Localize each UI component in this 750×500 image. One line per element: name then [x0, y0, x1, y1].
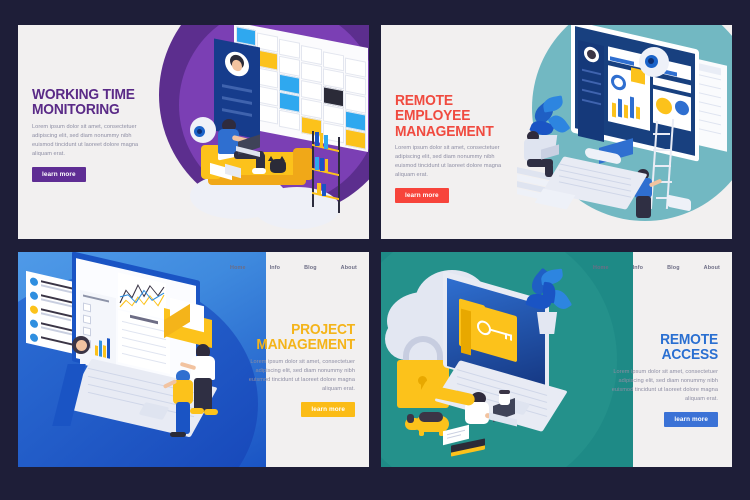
nav-item-home[interactable]: Home	[593, 265, 609, 271]
panel-title-line-1: WORKING TIME	[32, 87, 139, 102]
profile-card	[214, 39, 260, 140]
panel-title: REMOTE EMPLOYEE MANAGEMENT	[395, 93, 505, 139]
banner-set: WORKING TIME MONITORING Lorem ipsum dolo…	[0, 0, 750, 500]
panel-body-text: Lorem ipsum dolor sit amet, consectetuer…	[32, 123, 148, 159]
panel-body-text: Lorem ipsum dolor sit amet, consectetuer…	[395, 144, 515, 180]
panel-body-text: Lorem ipsum dolor sit amet, consectetuer…	[235, 358, 355, 394]
panel-body-text: Lorem ipsum dolor sit amet, consectetuer…	[598, 368, 718, 404]
panel-title-line-1: REMOTE ACCESS	[608, 332, 718, 363]
panel-nav[interactable]: Home Info Blog About	[230, 265, 357, 271]
banner-working-time-monitoring[interactable]: WORKING TIME MONITORING Lorem ipsum dolo…	[18, 25, 369, 239]
learn-more-button[interactable]: learn more	[32, 167, 86, 182]
banner-project-management[interactable]: Home Info Blog About PROJECT MANAGEMENT …	[18, 252, 369, 467]
learn-more-button[interactable]: learn more	[301, 402, 355, 417]
panel-title: REMOTE ACCESS	[608, 332, 718, 363]
nav-item-info[interactable]: Info	[270, 265, 280, 271]
learn-more-button[interactable]: learn more	[664, 412, 718, 427]
panel-title-line-2: MONITORING	[32, 102, 139, 117]
panel-title-line-2: MANAGEMENT	[245, 337, 355, 352]
banner-remote-access[interactable]: Home Info Blog About REMOTE ACCESS Lorem…	[381, 252, 732, 467]
cat-icon	[270, 159, 286, 173]
panel-title-line-1: PROJECT	[245, 322, 355, 337]
envelope-icon	[164, 306, 212, 342]
panel-title: WORKING TIME MONITORING	[32, 87, 139, 118]
nav-item-about[interactable]: About	[704, 265, 720, 271]
nav-item-blog[interactable]: Blog	[667, 265, 680, 271]
nav-item-info[interactable]: Info	[633, 265, 643, 271]
learn-more-button[interactable]: learn more	[395, 188, 449, 203]
monitor	[571, 35, 699, 153]
banner-remote-employee-management[interactable]: REMOTE EMPLOYEE MANAGEMENT Lorem ipsum d…	[381, 25, 732, 239]
panel-title: PROJECT MANAGEMENT	[245, 322, 355, 353]
panel-nav[interactable]: Home Info Blog About	[593, 265, 720, 271]
panel-title-line-1: REMOTE EMPLOYEE	[395, 93, 505, 124]
nav-item-home[interactable]: Home	[230, 265, 246, 271]
nav-item-blog[interactable]: Blog	[304, 265, 317, 271]
panel-title-line-2: MANAGEMENT	[395, 124, 505, 139]
nav-item-about[interactable]: About	[341, 265, 357, 271]
